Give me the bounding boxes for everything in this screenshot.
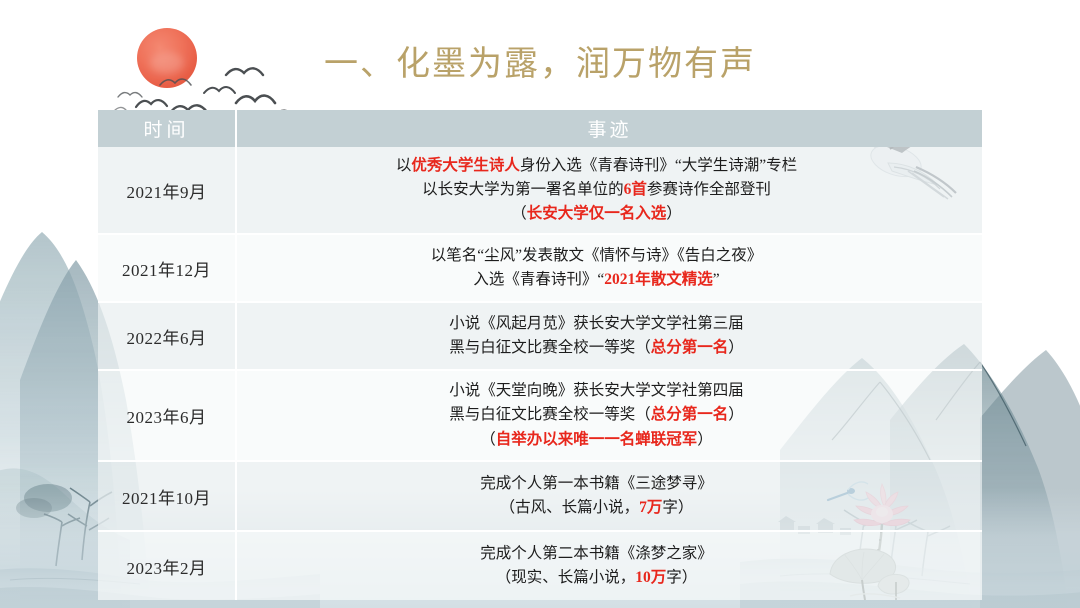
table-row: 2023年2月完成个人第二本书籍《涤梦之家》（现实、长篇小说，10万字）	[98, 531, 982, 600]
plain-text: 字）	[666, 569, 697, 586]
plain-text: 完成个人第二本书籍《涤梦之家》	[480, 545, 713, 562]
plain-text: 小说《风起月苋》获长安大学文学社第三届	[449, 315, 744, 332]
cell-time: 2021年9月	[98, 147, 236, 234]
deed-line: （长安大学仅一名入选）	[251, 202, 942, 226]
achievements-table-wrapper: 时间 事迹 2021年9月以优秀大学生诗人身份入选《青春诗刊》“大学生诗潮”专栏…	[98, 110, 982, 600]
cell-deed: 以优秀大学生诗人身份入选《青春诗刊》“大学生诗潮”专栏以长安大学为第一署名单位的…	[236, 147, 982, 234]
plain-text: 小说《天堂向晚》获长安大学文学社第四届	[449, 382, 744, 399]
highlight-text: 6首	[624, 181, 647, 198]
plain-text: （	[480, 431, 496, 448]
deed-line: 小说《风起月苋》获长安大学文学社第三届	[251, 312, 942, 336]
cell-deed: 完成个人第一本书籍《三途梦寻》（古风、长篇小说，7万字）	[236, 461, 982, 531]
table-row: 2021年10月完成个人第一本书籍《三途梦寻》（古风、长篇小说，7万字）	[98, 461, 982, 531]
cell-deed: 完成个人第二本书籍《涤梦之家》（现实、长篇小说，10万字）	[236, 531, 982, 600]
highlight-text: 总分第一名	[651, 406, 729, 423]
highlight-text: 10万	[635, 569, 666, 586]
column-header-time: 时间	[98, 110, 236, 147]
cell-time: 2021年10月	[98, 461, 236, 531]
deed-line: 黑与白征文比赛全校一等奖（总分第一名）	[251, 336, 942, 360]
cell-deed: 以笔名“尘风”发表散文《情怀与诗》《告白之夜》入选《青春诗刊》“2021年散文精…	[236, 234, 982, 302]
achievements-table: 时间 事迹 2021年9月以优秀大学生诗人身份入选《青春诗刊》“大学生诗潮”专栏…	[98, 110, 982, 600]
table-body: 2021年9月以优秀大学生诗人身份入选《青春诗刊》“大学生诗潮”专栏以长安大学为…	[98, 147, 982, 600]
plain-text: （现实、长篇小说，	[496, 569, 636, 586]
highlight-text: 优秀大学生诗人	[411, 157, 520, 174]
plain-text: 黑与白征文比赛全校一等奖（	[449, 339, 651, 356]
cell-time: 2021年12月	[98, 234, 236, 302]
highlight-text: 2021年散文精选	[604, 271, 713, 288]
cell-time: 2023年6月	[98, 370, 236, 461]
highlight-text: 7万	[639, 499, 662, 516]
deed-line: （自举办以来唯一一名蝉联冠军）	[251, 428, 942, 452]
plain-text: 身份入选《青春诗刊》“大学生诗潮”专栏	[520, 157, 797, 174]
deed-line: 黑与白征文比赛全校一等奖（总分第一名）	[251, 403, 942, 427]
plain-text: 黑与白征文比赛全校一等奖（	[449, 406, 651, 423]
plain-text: （	[511, 205, 527, 222]
plain-text: ”	[713, 271, 720, 288]
plain-text: 入选《青春诗刊》“	[473, 271, 604, 288]
cell-time: 2022年6月	[98, 302, 236, 370]
column-header-deed: 事迹	[236, 110, 982, 147]
plain-text: 以长安大学为第一署名单位的	[422, 181, 624, 198]
plain-text: （古风、长篇小说，	[500, 499, 640, 516]
deed-line: 以长安大学为第一署名单位的6首参赛诗作全部登刊	[251, 178, 942, 202]
plain-text: 字）	[662, 499, 693, 516]
deed-line: （现实、长篇小说，10万字）	[251, 566, 942, 590]
table-row: 2021年12月以笔名“尘风”发表散文《情怀与诗》《告白之夜》入选《青春诗刊》“…	[98, 234, 982, 302]
highlight-text: 总分第一名	[651, 339, 729, 356]
deed-line: 以笔名“尘风”发表散文《情怀与诗》《告白之夜》	[251, 244, 942, 268]
plain-text: ）	[728, 339, 744, 356]
table-row: 2023年6月小说《天堂向晚》获长安大学文学社第四届黑与白征文比赛全校一等奖（总…	[98, 370, 982, 461]
deed-line: 完成个人第一本书籍《三途梦寻》	[251, 472, 942, 496]
table-header-row: 时间 事迹	[98, 110, 982, 147]
deed-line: 小说《天堂向晚》获长安大学文学社第四届	[251, 379, 942, 403]
highlight-text: 长安大学仅一名入选	[527, 205, 667, 222]
plain-text: 参赛诗作全部登刊	[647, 181, 771, 198]
cell-time: 2023年2月	[98, 531, 236, 600]
deed-line: 入选《青春诗刊》“2021年散文精选”	[251, 268, 942, 292]
plain-text: ）	[666, 205, 682, 222]
cell-deed: 小说《风起月苋》获长安大学文学社第三届黑与白征文比赛全校一等奖（总分第一名）	[236, 302, 982, 370]
slide-title: 一、化墨为露，润万物有声	[0, 36, 1080, 85]
deed-line: 以优秀大学生诗人身份入选《青春诗刊》“大学生诗潮”专栏	[251, 154, 942, 178]
deed-line: （古风、长篇小说，7万字）	[251, 496, 942, 520]
plain-text: 以	[396, 157, 412, 174]
deed-line: 完成个人第二本书籍《涤梦之家》	[251, 542, 942, 566]
highlight-text: 自举办以来唯一一名蝉联冠军	[496, 431, 698, 448]
plain-text: 以笔名“尘风”发表散文《情怀与诗》《告白之夜》	[431, 247, 763, 264]
plain-text: 完成个人第一本书籍《三途梦寻》	[480, 475, 713, 492]
plain-text: ）	[697, 431, 713, 448]
cell-deed: 小说《天堂向晚》获长安大学文学社第四届黑与白征文比赛全校一等奖（总分第一名）（自…	[236, 370, 982, 461]
plain-text: ）	[728, 406, 744, 423]
table-header: 时间 事迹	[98, 110, 982, 147]
table-row: 2021年9月以优秀大学生诗人身份入选《青春诗刊》“大学生诗潮”专栏以长安大学为…	[98, 147, 982, 234]
table-row: 2022年6月小说《风起月苋》获长安大学文学社第三届黑与白征文比赛全校一等奖（总…	[98, 302, 982, 370]
